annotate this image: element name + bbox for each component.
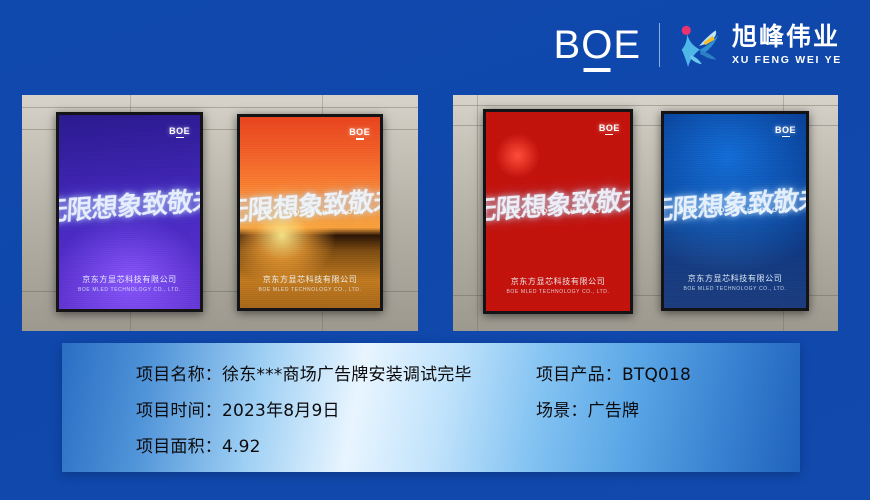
info-value: BTQ018 <box>622 365 691 385</box>
info-item-scene: 场景：广告牌 <box>536 396 639 421</box>
info-label: 项目面积： <box>136 437 222 457</box>
poster-footer: 京东方显芯科技有限公司 BOE MLED TECHNOLOGY CO., LTD… <box>486 276 630 295</box>
poster-footer-cn: 京东方显芯科技有限公司 <box>486 276 630 287</box>
info-left-column-cell: 项目名称：徐东***商场广告牌安装调试完毕 <box>136 360 536 396</box>
poster-boe-logo: BOE <box>169 127 190 139</box>
logo-divider <box>659 23 660 67</box>
info-label: 项目时间： <box>136 401 222 421</box>
poster-footer-cn: 京东方显芯科技有限公司 <box>664 273 806 284</box>
poster-slogan-cn: 以无限想象致敬未来 <box>240 179 380 232</box>
led-display-surface: BOE 以无限想象致敬未来 BOE MLED TECHNOLOGY 京东方显芯科… <box>664 114 806 308</box>
poster-slogan-en: BOE MLED TECHNOLOGY <box>495 208 622 215</box>
gallery-photo-left: BOE 以无限想象致敬未来 京东方显芯科技有限公司 BOE MLED TECHN… <box>22 95 418 331</box>
info-value: 4.92 <box>222 437 261 457</box>
info-item-project-date: 项目时间：2023年8月9日 <box>136 396 536 421</box>
poster-footer-en: BOE MLED TECHNOLOGY CO., LTD. <box>240 287 380 293</box>
info-value: 徐东***商场广告牌安装调试完毕 <box>222 365 472 385</box>
poster-boe-underline-icon <box>176 137 184 139</box>
info-row: 项目面积：4.92 <box>136 432 790 468</box>
photo-gallery: BOE 以无限想象致敬未来 京东方显芯科技有限公司 BOE MLED TECHN… <box>22 95 838 331</box>
led-display-sunset: BOE 以无限想象致敬未来 BOE MLED TECHNOLOGY 京东方显芯科… <box>237 114 383 311</box>
poster-boe-text: BOE <box>775 125 796 135</box>
info-row: 项目时间：2023年8月9日 场景：广告牌 <box>136 396 790 432</box>
poster-slogan-en: BOE MLED TECHNOLOGY <box>673 207 798 214</box>
boe-wordmark-text: BOE <box>554 25 641 65</box>
poster-boe-text: BOE <box>169 126 190 136</box>
info-left-column-cell: 项目面积：4.92 <box>136 432 536 468</box>
poster-slogan-cn: 以无限想象致敬未来 <box>59 178 200 231</box>
info-value: 广告牌 <box>588 401 640 421</box>
led-display-surface: BOE 以无限想象致敬未来 京东方显芯科技有限公司 BOE MLED TECHN… <box>59 115 200 309</box>
info-right-column-cell: 项目产品：BTQ018 <box>536 360 691 396</box>
poster-footer-en: BOE MLED TECHNOLOGY CO., LTD. <box>486 289 630 295</box>
led-display-surface: BOE 以无限想象致敬未来 BOE MLED TECHNOLOGY 京东方显芯科… <box>240 117 380 308</box>
poster-footer-en: BOE MLED TECHNOLOGY CO., LTD. <box>59 287 200 293</box>
boe-logo: BOE <box>554 25 641 65</box>
slide-background: BOE 旭峰伟业 XU FENG WEI YE <box>0 0 870 500</box>
wall-seam <box>453 105 838 106</box>
poster-boe-underline-icon <box>605 134 613 136</box>
poster-footer-cn: 京东方显芯科技有限公司 <box>59 274 200 285</box>
info-value: 2023年8月9日 <box>222 401 340 421</box>
info-label: 项目名称： <box>136 365 222 385</box>
poster-slogan: 以无限想象致敬未来 BOE MLED TECHNOLOGY <box>495 178 622 230</box>
partner-name-block: 旭峰伟业 XU FENG WEI YE <box>732 24 842 67</box>
info-item-project-product: 项目产品：BTQ018 <box>536 360 691 385</box>
poster-slogan-en: BOE MLED TECHNOLOGY <box>248 209 371 216</box>
partner-name-cn: 旭峰伟业 <box>732 24 840 50</box>
led-display-purple: BOE 以无限想象致敬未来 京东方显芯科技有限公司 BOE MLED TECHN… <box>56 112 203 312</box>
poster-footer: 京东方显芯科技有限公司 BOE MLED TECHNOLOGY CO., LTD… <box>664 273 806 292</box>
logo-row: BOE 旭峰伟业 XU FENG WEI YE <box>554 20 842 70</box>
partner-name-en: XU FENG WEI YE <box>732 53 842 67</box>
xufeng-bird-mark-icon <box>678 22 722 68</box>
poster-slogan: 以无限想象致敬未来 <box>67 179 191 229</box>
boe-underline-icon <box>584 68 611 72</box>
info-left-column-cell: 项目时间：2023年8月9日 <box>136 396 536 432</box>
info-label: 项目产品： <box>536 365 622 385</box>
info-right-column-cell: 场景：广告牌 <box>536 396 639 432</box>
poster-boe-underline-icon <box>356 138 364 140</box>
poster-boe-text: BOE <box>599 123 620 133</box>
info-item-project-area: 项目面积：4.92 <box>136 432 536 457</box>
poster-slogan: 以无限想象致敬未来 BOE MLED TECHNOLOGY <box>248 180 371 230</box>
project-info-grid: 项目名称：徐东***商场广告牌安装调试完毕 项目产品：BTQ018 项目时间：2… <box>136 360 790 468</box>
poster-footer: 京东方显芯科技有限公司 BOE MLED TECHNOLOGY CO., LTD… <box>59 274 200 293</box>
poster-slogan: 以无限想象致敬未来 BOE MLED TECHNOLOGY <box>673 178 798 228</box>
poster-boe-logo: BOE <box>349 128 370 140</box>
poster-boe-underline-icon <box>782 136 790 138</box>
project-info-panel: 项目名称：徐东***商场广告牌安装调试完毕 项目产品：BTQ018 项目时间：2… <box>62 343 800 472</box>
partner-logo: 旭峰伟业 XU FENG WEI YE <box>678 22 842 68</box>
header: BOE 旭峰伟业 XU FENG WEI YE <box>0 0 870 90</box>
wall-scene-right: BOE 以无限想象致敬未来 BOE MLED TECHNOLOGY 京东方显芯科… <box>453 95 838 331</box>
poster-footer-en: BOE MLED TECHNOLOGY CO., LTD. <box>664 286 806 292</box>
poster-boe-logo: BOE <box>775 126 796 138</box>
poster-footer: 京东方显芯科技有限公司 BOE MLED TECHNOLOGY CO., LTD… <box>240 274 380 293</box>
gallery-photo-right: BOE 以无限想象致敬未来 BOE MLED TECHNOLOGY 京东方显芯科… <box>453 95 838 331</box>
wall-scene-left: BOE 以无限想象致敬未来 京东方显芯科技有限公司 BOE MLED TECHN… <box>22 95 418 331</box>
info-label: 场景： <box>536 401 588 421</box>
info-item-project-name: 项目名称：徐东***商场广告牌安装调试完毕 <box>136 360 536 385</box>
poster-boe-logo: BOE <box>599 124 620 136</box>
poster-boe-text: BOE <box>349 127 370 137</box>
poster-slogan-cn: 以无限想象致敬未来 <box>486 177 630 230</box>
info-row: 项目名称：徐东***商场广告牌安装调试完毕 项目产品：BTQ018 <box>136 360 790 396</box>
wall-seam <box>22 107 418 108</box>
wall-seam-vertical <box>477 95 478 331</box>
led-display-blue: BOE 以无限想象致敬未来 BOE MLED TECHNOLOGY 京东方显芯科… <box>661 111 809 311</box>
poster-slogan-cn: 以无限想象致敬未来 <box>664 177 806 230</box>
led-display-surface: BOE 以无限想象致敬未来 BOE MLED TECHNOLOGY 京东方显芯科… <box>486 112 630 311</box>
poster-footer-cn: 京东方显芯科技有限公司 <box>240 274 380 285</box>
led-display-red: BOE 以无限想象致敬未来 BOE MLED TECHNOLOGY 京东方显芯科… <box>483 109 633 314</box>
